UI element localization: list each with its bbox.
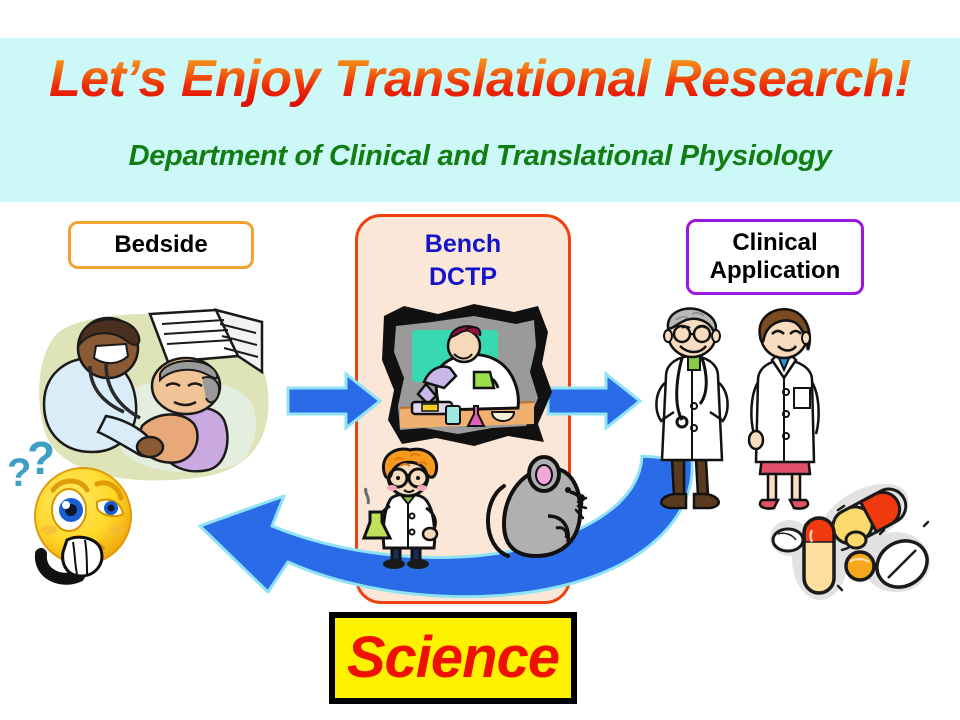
lab-mouse-icon [478,450,586,570]
chemist-with-flask-icon [362,448,462,573]
page-subtitle: Department of Clinical and Translational… [0,140,960,173]
svg-text:?: ? [27,432,55,484]
bedside-label-box: Bedside [68,221,254,269]
bedside-label-text: Bedside [114,231,207,259]
scientist-at-microscope-icon [378,302,556,450]
clinical-label-line1: Clinical [732,229,817,257]
science-box: Science [329,612,577,704]
page-title: Let’s Enjoy Translational Research! [0,52,960,107]
arrow-right-icon-bench-to-clinical [546,372,642,430]
bench-label-line2: DCTP [355,261,571,294]
thinking-face-icon: ? ? [5,438,145,578]
bench-label-line1: Bench [355,228,571,261]
bench-label-group: Bench DCTP [355,228,571,294]
pills-icon [768,490,950,600]
arrow-right-icon-bedside-to-bench [286,372,382,430]
clinical-application-label-box: Clinical Application [686,219,864,295]
clinical-label-line2: Application [710,257,841,285]
slide-canvas: Let’s Enjoy Translational Research! Depa… [0,0,960,720]
science-label-text: Science [347,629,559,687]
